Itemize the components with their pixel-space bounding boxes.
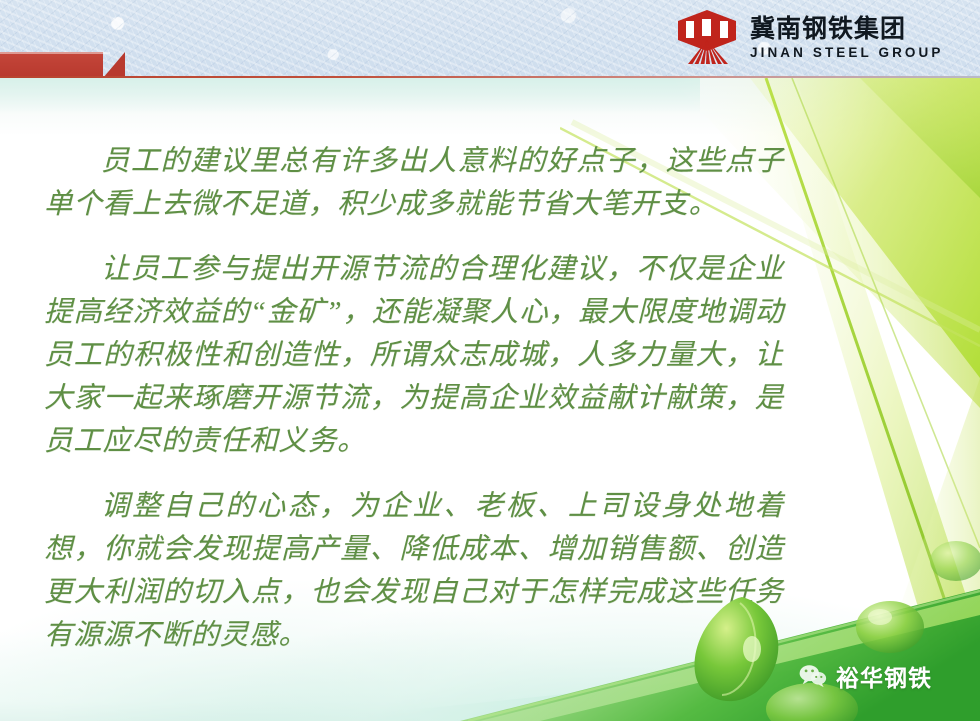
wechat-watermark: 裕华钢铁 — [799, 659, 932, 693]
red-accent-banner-tip — [103, 52, 125, 78]
red-accent-banner-highlight — [0, 52, 110, 54]
slide-header: 冀南钢铁集团 JINAN STEEL GROUP — [0, 0, 980, 78]
logo-company-name-en: JINAN STEEL GROUP — [750, 46, 943, 60]
logo-company-name-cn: 冀南钢铁集团 — [750, 17, 943, 42]
paragraph-3: 调整自己的心态，为企业、老板、上司设身处地着想，你就会发现提高产量、降低成本、增… — [44, 485, 784, 657]
jinan-steel-logo-mark-icon — [676, 9, 738, 67]
paragraph-2: 让员工参与提出开源节流的合理化建议，不仅是企业提高经济效益的“金矿”，还能凝聚人… — [44, 248, 784, 463]
company-logo: 冀南钢铁集团 JINAN STEEL GROUP — [676, 8, 966, 68]
slide-body: 员工的建议里总有许多出人意料的好点子，这些点子单个看上去微不足道，积少成多就能节… — [0, 78, 980, 721]
watermark-label: 裕华钢铁 — [836, 659, 932, 693]
top-mint-wash — [0, 78, 700, 114]
logo-text-group: 冀南钢铁集团 JINAN STEEL GROUP — [750, 17, 943, 60]
red-accent-banner — [0, 52, 103, 78]
presentation-slide: 冀南钢铁集团 JINAN STEEL GROUP — [0, 0, 980, 721]
slide-text-content: 员工的建议里总有许多出人意料的好点子，这些点子单个看上去微不足道，积少成多就能节… — [44, 140, 784, 657]
paragraph-1: 员工的建议里总有许多出人意料的好点子，这些点子单个看上去微不足道，积少成多就能节… — [44, 140, 784, 226]
wechat-icon — [799, 664, 827, 688]
